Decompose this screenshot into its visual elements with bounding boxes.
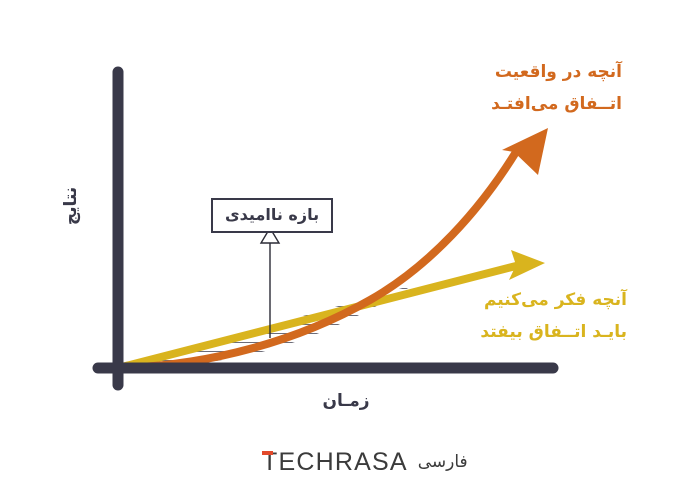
logo-wordmark: TECHRASA xyxy=(262,448,408,477)
gap-annotation-box: بازه ناامیدی xyxy=(211,198,333,233)
logo-suffix-farsi: فارسی xyxy=(418,452,468,472)
expectation-label-line-2: بایـد اتــفاق بیفتد xyxy=(452,317,627,347)
reality-label-line-1: آنچه در واقعیت xyxy=(452,57,622,87)
y-axis-label: نتایج xyxy=(61,161,81,251)
gap-leader-line xyxy=(261,228,279,338)
reality-label-line-2: اتــفاق می‌افتـد xyxy=(452,89,622,119)
expectation-label-line-1: آنچه فکر می‌کنیم xyxy=(452,285,627,315)
chart-canvas: آنچه در واقعیت اتــفاق می‌افتـد آنچه فکر… xyxy=(0,0,688,498)
logo-wordmark-text: TECHRASA xyxy=(262,448,408,476)
logo-accent-mark xyxy=(262,451,273,455)
techrasa-logo: TECHRASA فارسی xyxy=(262,447,452,477)
x-axis-label: زمـان xyxy=(296,391,396,411)
